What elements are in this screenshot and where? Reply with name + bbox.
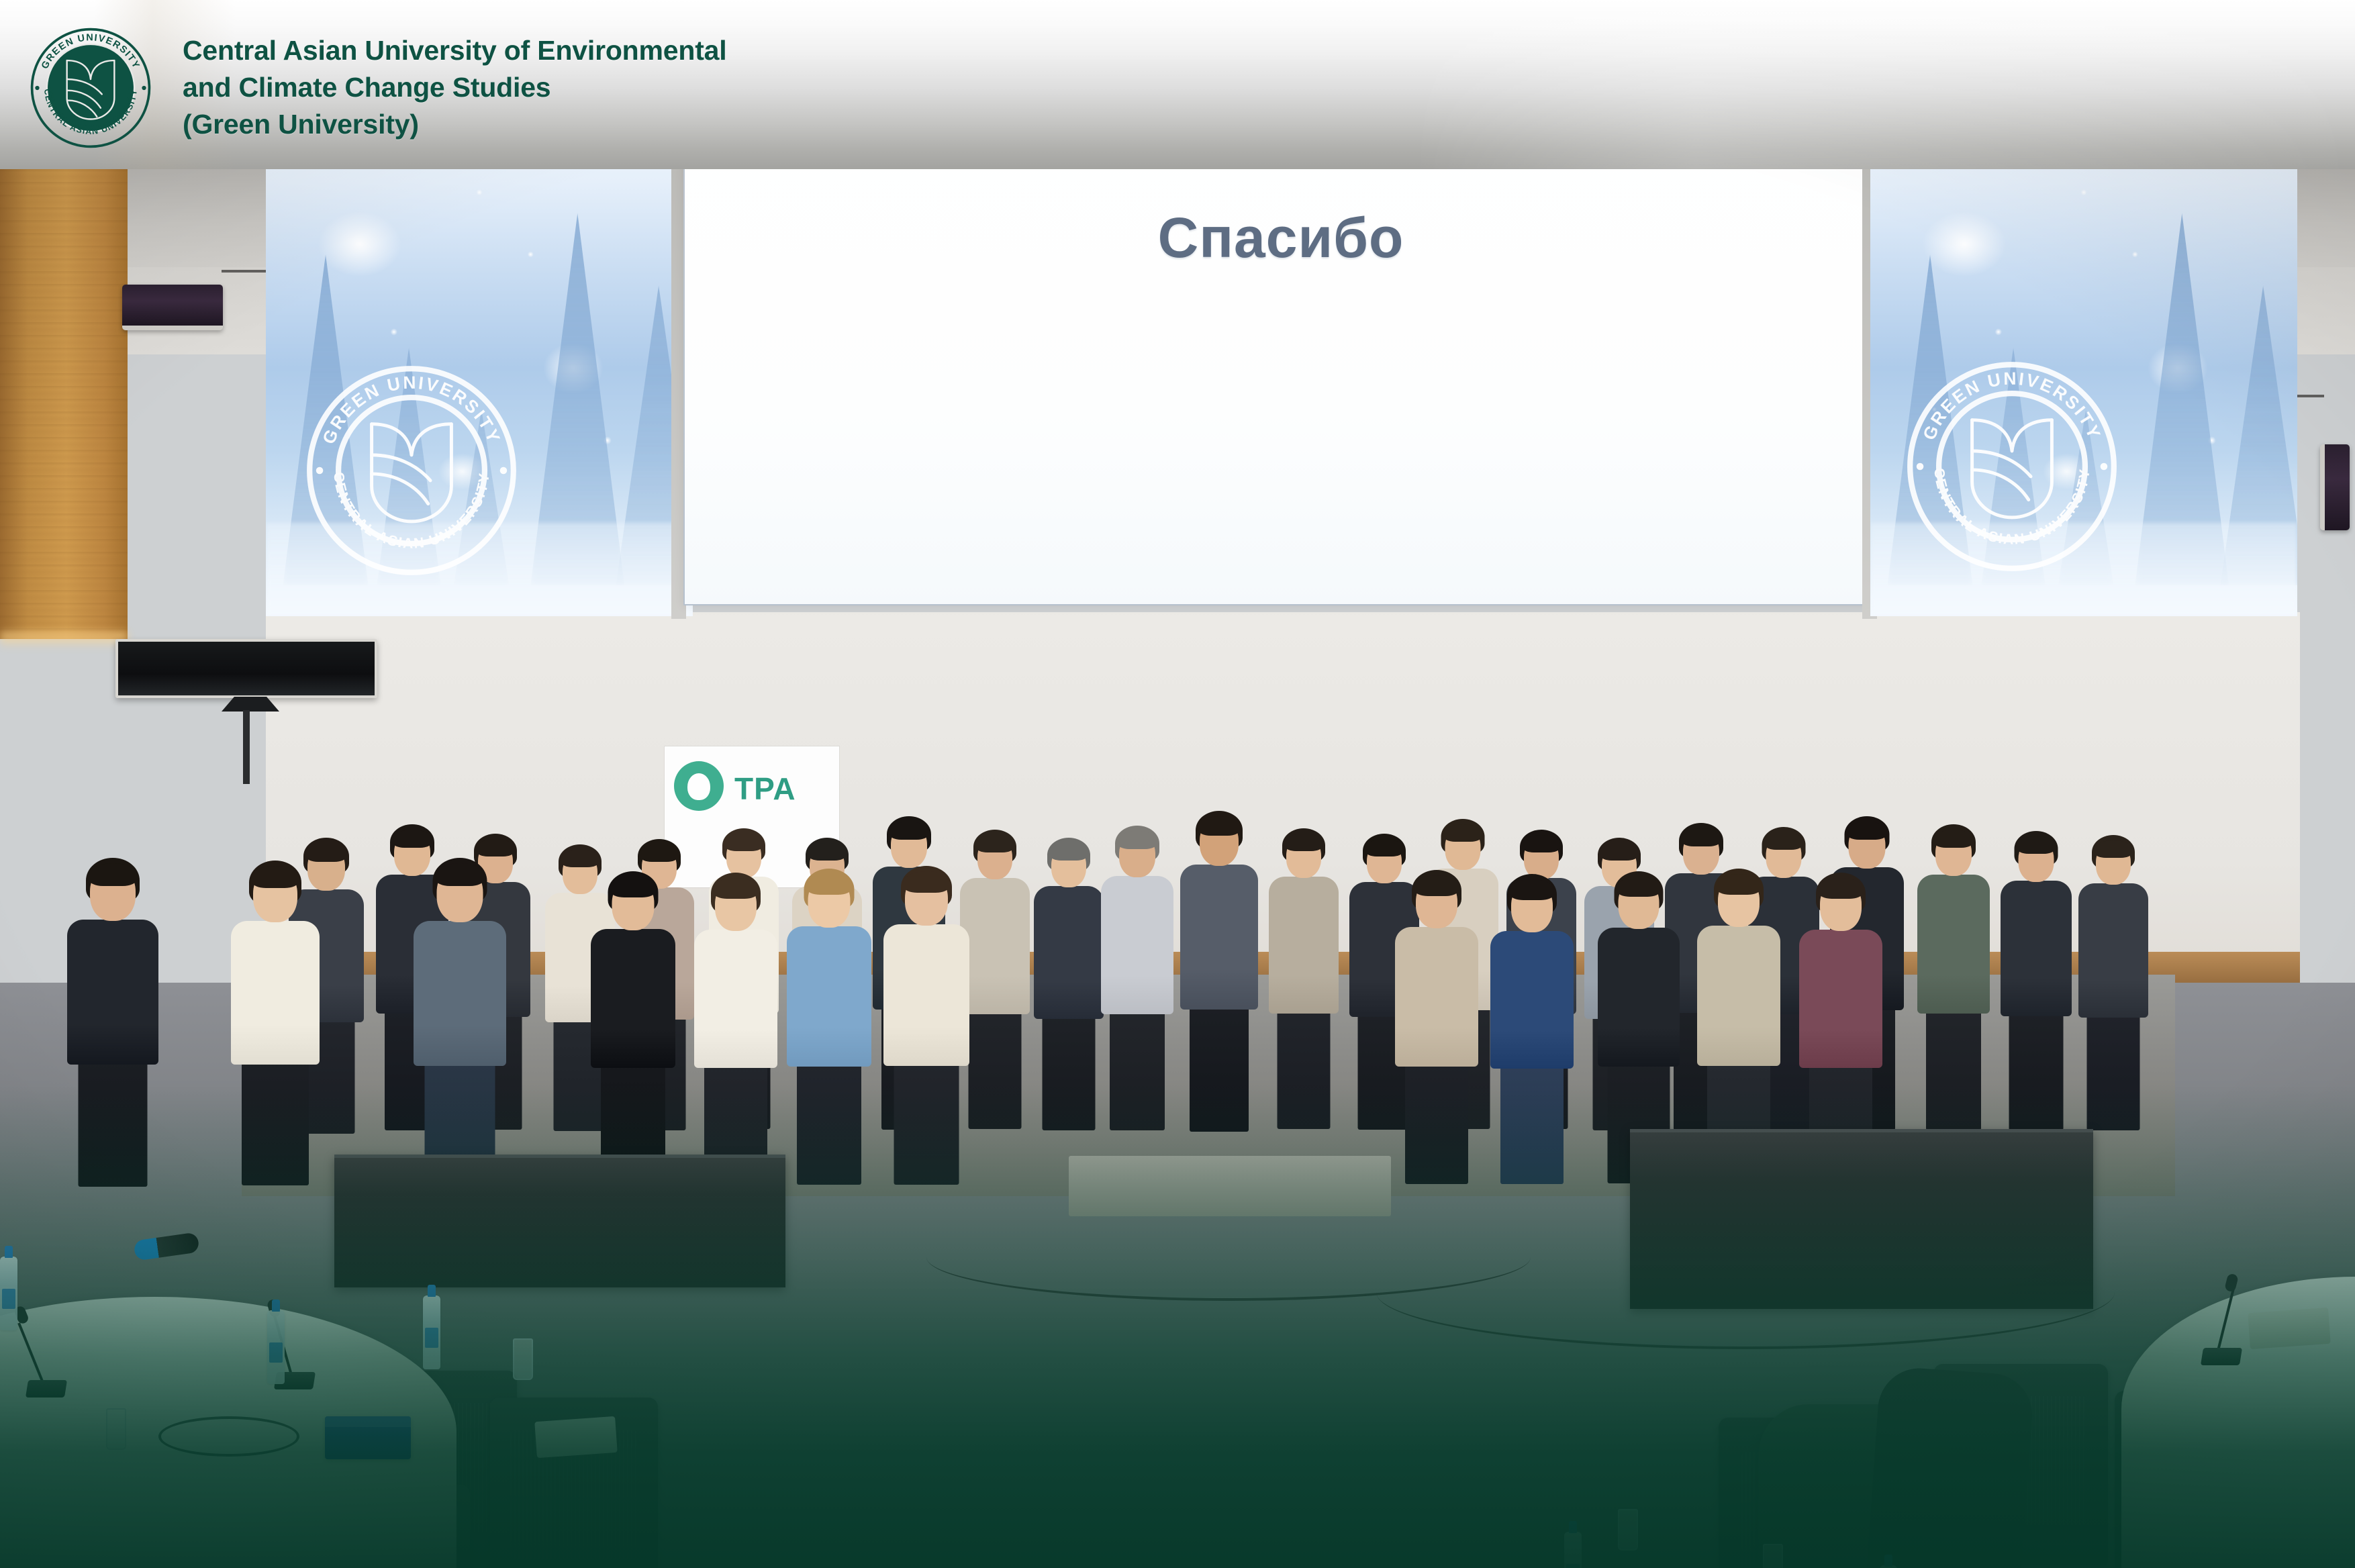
person-torso: [1598, 928, 1680, 1067]
person-figure: [883, 869, 969, 1176]
person-torso: [883, 924, 969, 1066]
person-fringe: [1819, 878, 1863, 899]
person-fringe: [714, 878, 758, 899]
title-line-3: (Green University): [183, 106, 726, 143]
folded-coat: [1866, 1365, 2035, 1568]
title-line-1: Central Asian University of Environmenta…: [183, 32, 726, 69]
conference-microphone-1: [27, 1310, 67, 1398]
person-figure: [787, 871, 871, 1176]
title-line-2: and Climate Change Studies: [183, 69, 726, 106]
person-torso: [1395, 927, 1478, 1067]
person-torso: [67, 920, 158, 1065]
folded-napkin-1: [534, 1416, 617, 1458]
person-fringe: [611, 877, 656, 897]
water-bottle-2: [267, 1310, 285, 1384]
conference-microphone-3: [2202, 1278, 2242, 1365]
person-torso: [1490, 931, 1574, 1069]
blue-gift-box: [325, 1416, 411, 1459]
person-figure: [1395, 873, 1478, 1176]
person-legs: [1500, 1065, 1564, 1184]
person-figure: [591, 874, 675, 1176]
page-title: Central Asian University of Environmenta…: [183, 32, 726, 143]
person-figure: [1490, 877, 1574, 1176]
person-figure: [67, 861, 158, 1176]
slide-title-text: Спасибо: [683, 205, 1878, 271]
person-figure: [414, 861, 506, 1176]
person-torso: [787, 926, 871, 1067]
person-fringe: [904, 871, 949, 893]
person-torso: [1799, 930, 1882, 1068]
person-figure: [231, 863, 320, 1176]
screenshot-root: GREEN UNIVERSITY CENTRAL ASIAN UNIVERSIT…: [0, 0, 2355, 1568]
person-torso: [591, 929, 675, 1068]
person-legs: [797, 1063, 861, 1185]
drinking-glass-3: [1618, 1509, 1638, 1551]
water-bottle-3: [423, 1295, 440, 1369]
front-desk-left: [334, 1155, 785, 1287]
person-fringe: [1510, 879, 1554, 900]
person-legs: [1405, 1063, 1468, 1184]
conference-hall-photo: TPA GREEN UNIVERSITY: [0, 169, 2355, 1568]
water-bottle-5: [1880, 1565, 1897, 1568]
header-band: GREEN UNIVERSITY CENTRAL ASIAN UNIVERSIT…: [0, 0, 2355, 169]
person-fringe: [1414, 875, 1459, 896]
person-fringe: [436, 863, 485, 886]
person-fringe: [252, 866, 299, 888]
person-fringe: [1717, 874, 1761, 895]
group-photo-front-row: [0, 464, 2355, 1176]
person-torso: [414, 921, 506, 1066]
drinking-glass-2: [513, 1338, 533, 1380]
person-torso: [231, 921, 320, 1065]
drinking-glass-1: [106, 1408, 126, 1450]
green-university-seal-icon: GREEN UNIVERSITY CENTRAL ASIAN UNIVERSIT…: [28, 26, 153, 150]
person-torso: [694, 930, 777, 1068]
cable-coil: [158, 1416, 299, 1457]
drinking-glass-4: [1763, 1544, 1783, 1568]
water-bottle-1: [0, 1257, 17, 1330]
front-desk-right: [1630, 1129, 2093, 1309]
water-bottle-4: [1564, 1532, 1582, 1568]
folded-napkin-2: [2248, 1308, 2330, 1349]
person-torso: [1697, 926, 1780, 1066]
person-figure: [694, 875, 777, 1176]
person-legs: [79, 1061, 148, 1187]
person-legs: [242, 1061, 309, 1185]
person-legs: [894, 1062, 959, 1185]
ceiling-speaker-left-icon: [122, 285, 223, 330]
person-fringe: [1617, 877, 1661, 897]
person-fringe: [89, 863, 137, 886]
person-fringe: [807, 874, 852, 895]
